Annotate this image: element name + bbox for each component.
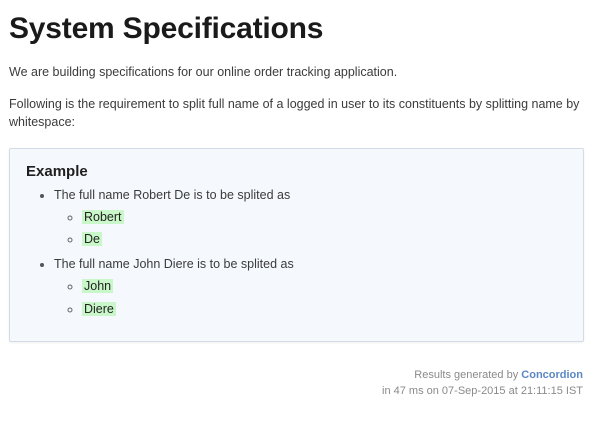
- name-part-value: John: [82, 279, 113, 293]
- name-parts-list: John Diere: [54, 277, 569, 319]
- list-item: The full name Robert De is to be splited…: [54, 186, 569, 250]
- name-parts-list: Robert De: [54, 208, 569, 250]
- example-box: Example The full name Robert De is to be…: [9, 148, 584, 342]
- list-item: The full name John Diere is to be splite…: [54, 255, 569, 319]
- intro-paragraph-1: We are building specifications for our o…: [9, 63, 584, 81]
- document-page: System Specifications We are building sp…: [0, 0, 600, 400]
- concordion-link[interactable]: Concordion: [521, 369, 583, 381]
- page-title: System Specifications: [9, 12, 584, 47]
- list-item: Diere: [82, 300, 569, 319]
- footer-prefix: Results generated by: [414, 369, 521, 381]
- specification-statement: The full name John Diere is to be splite…: [54, 257, 294, 271]
- footer-timing: in 47 ms on 07-Sep-2015 at 21:11:15 IST: [9, 384, 583, 400]
- footer: Results generated by Concordion in 47 ms…: [9, 368, 584, 400]
- intro-paragraph-2: Following is the requirement to split fu…: [9, 95, 584, 131]
- name-part-value: De: [82, 232, 102, 246]
- list-item: John: [82, 277, 569, 296]
- example-heading: Example: [26, 163, 569, 180]
- list-item: Robert: [82, 208, 569, 227]
- specification-list: The full name Robert De is to be splited…: [24, 186, 569, 319]
- specification-statement: The full name Robert De is to be splited…: [54, 188, 290, 202]
- name-part-value: Diere: [82, 302, 116, 316]
- name-part-value: Robert: [82, 210, 124, 224]
- list-item: De: [82, 230, 569, 249]
